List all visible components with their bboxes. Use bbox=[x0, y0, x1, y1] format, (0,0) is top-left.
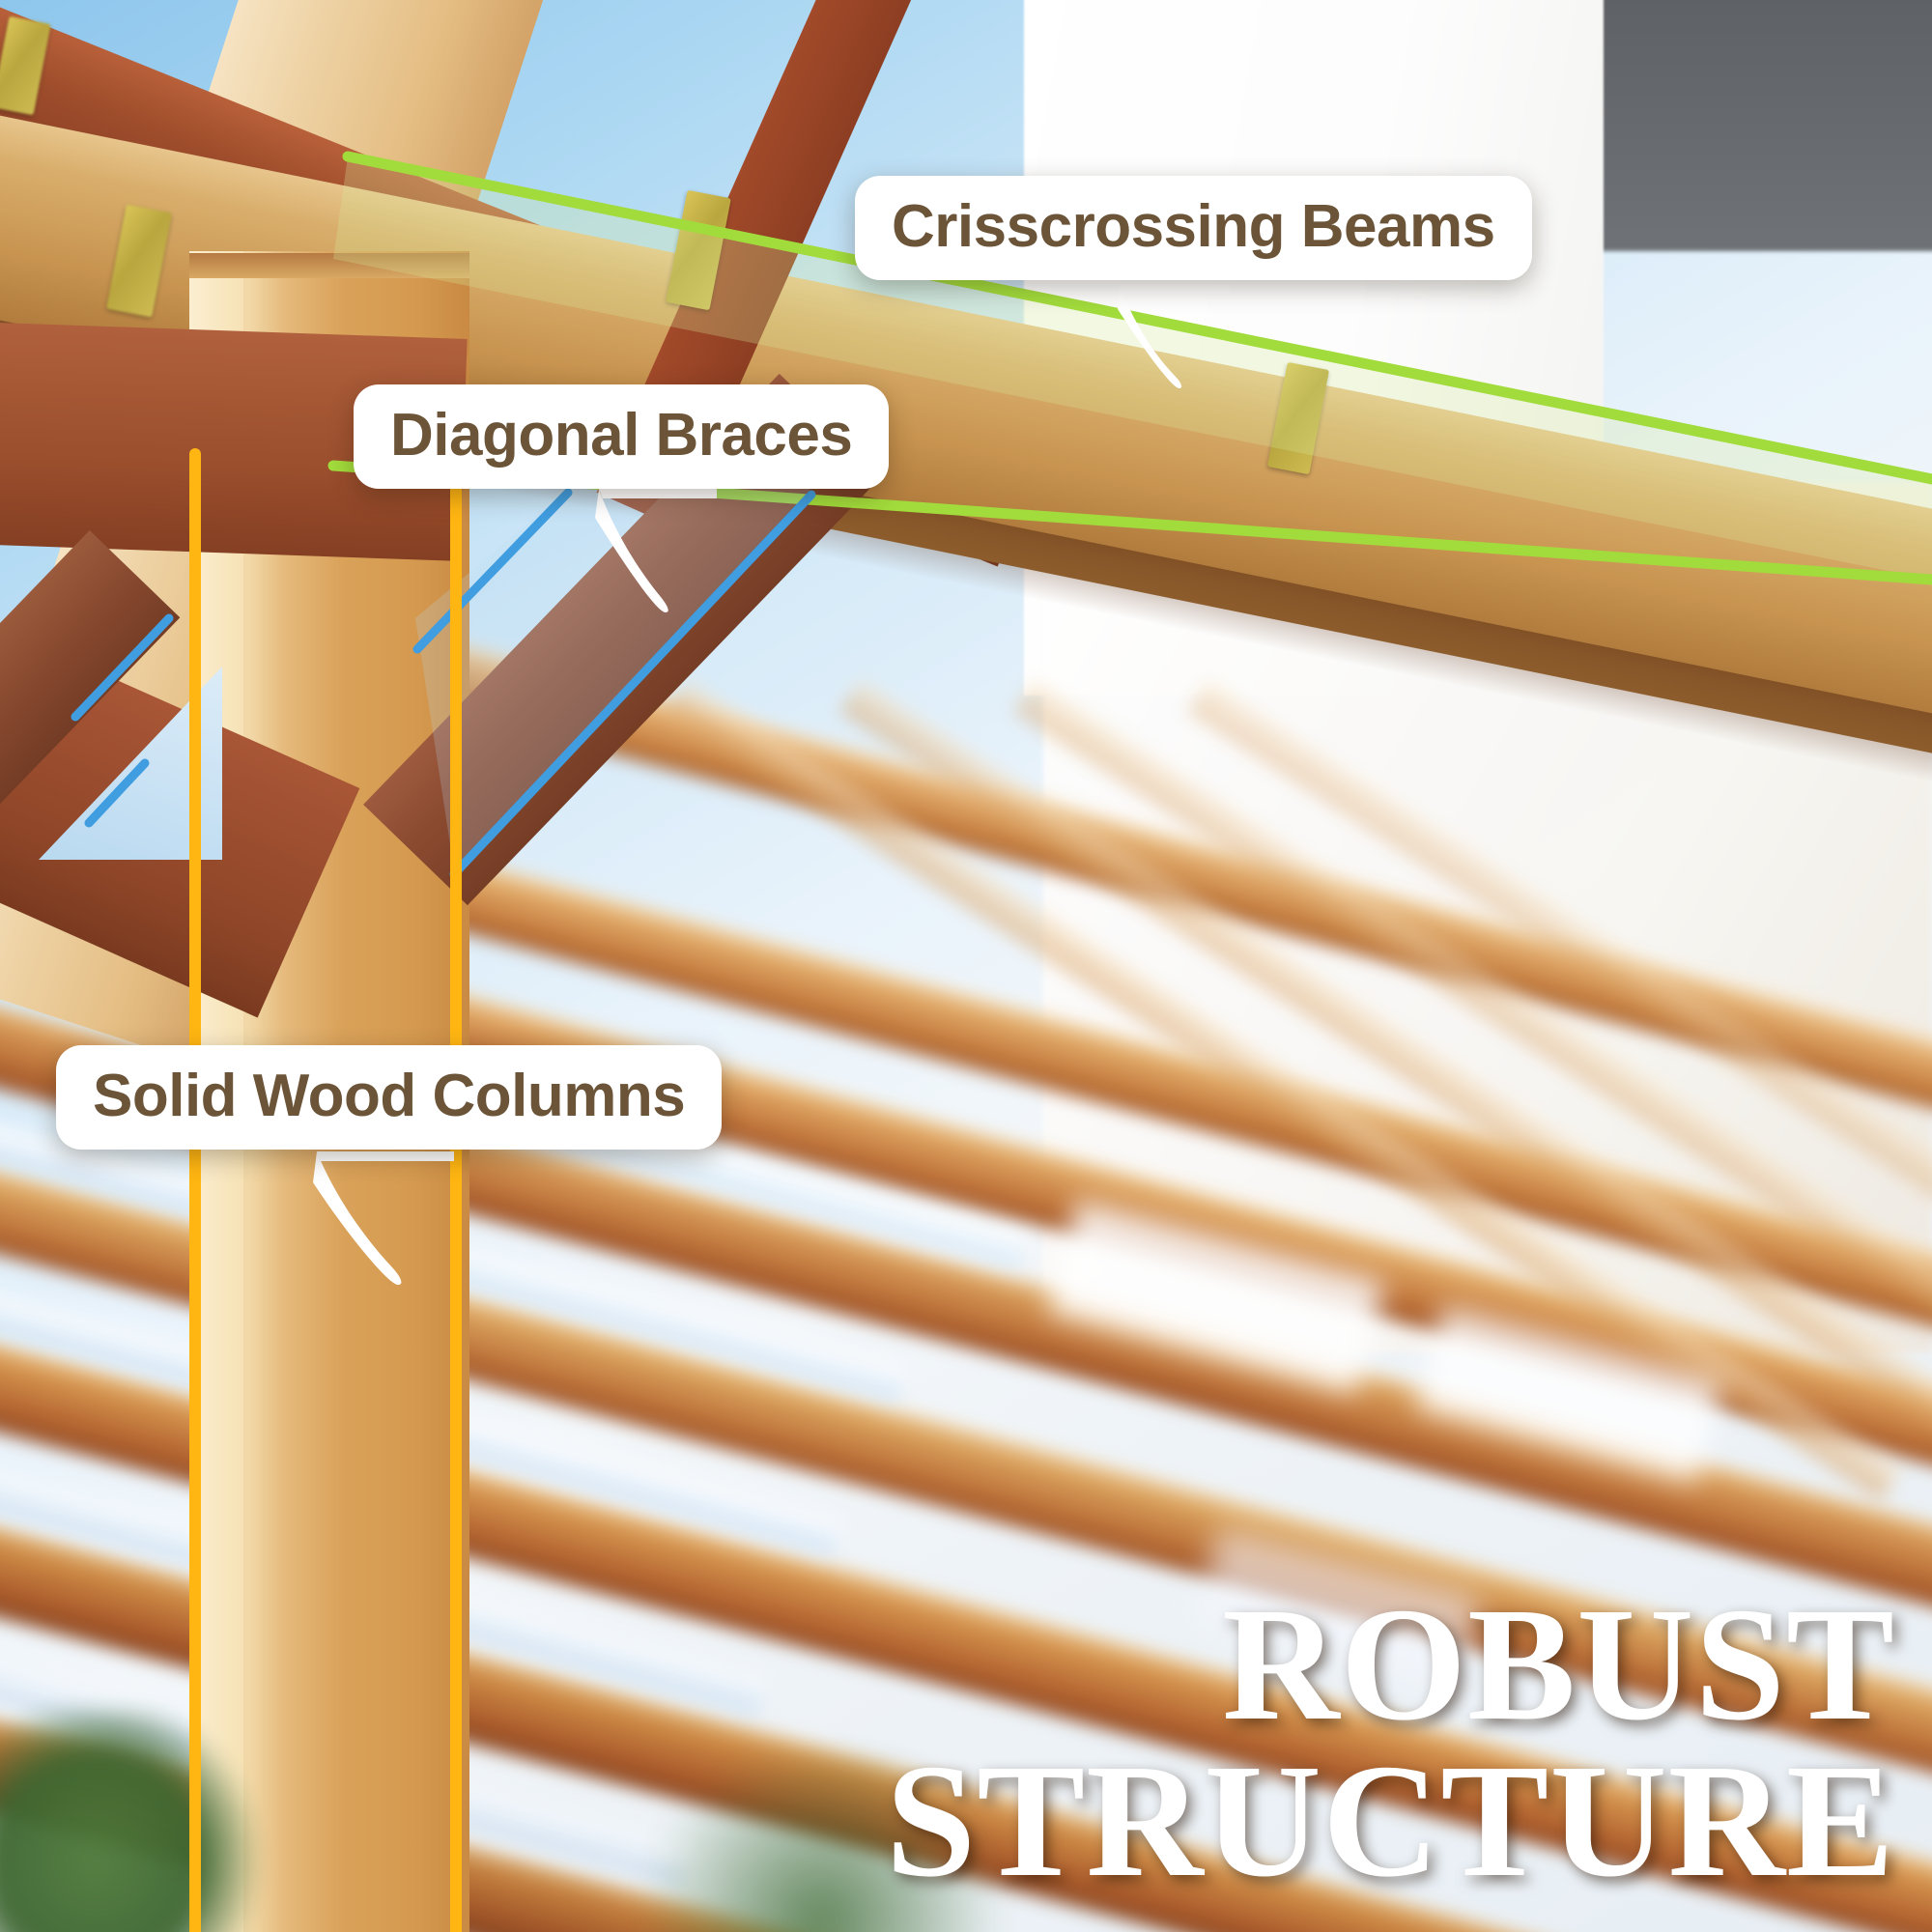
headline-line-1: Robust bbox=[886, 1587, 1895, 1743]
callout-bubble[interactable]: Crisscrossing Beams bbox=[855, 176, 1532, 280]
callout-label: Diagonal Braces bbox=[390, 406, 852, 466]
headline-line-2: Structure bbox=[886, 1744, 1895, 1899]
product-feature-image: Crisscrossing Beams Diagonal Braces Soli… bbox=[0, 0, 1932, 1932]
callout-tail bbox=[1114, 284, 1297, 419]
callout-tail bbox=[591, 489, 784, 643]
callout-diagonal-braces[interactable]: Diagonal Braces bbox=[354, 384, 889, 489]
callout-label: Crisscrossing Beams bbox=[892, 197, 1495, 257]
callout-bubble[interactable]: Diagonal Braces bbox=[354, 384, 889, 489]
callout-bubble[interactable]: Solid Wood Columns bbox=[56, 1045, 722, 1150]
callout-crisscrossing-beams[interactable]: Crisscrossing Beams bbox=[855, 176, 1532, 280]
headline: Robust Structure bbox=[886, 1587, 1895, 1899]
callout-solid-wood-columns[interactable]: Solid Wood Columns bbox=[56, 1045, 722, 1150]
callout-tail bbox=[309, 1151, 522, 1316]
callout-label: Solid Wood Columns bbox=[93, 1066, 685, 1126]
